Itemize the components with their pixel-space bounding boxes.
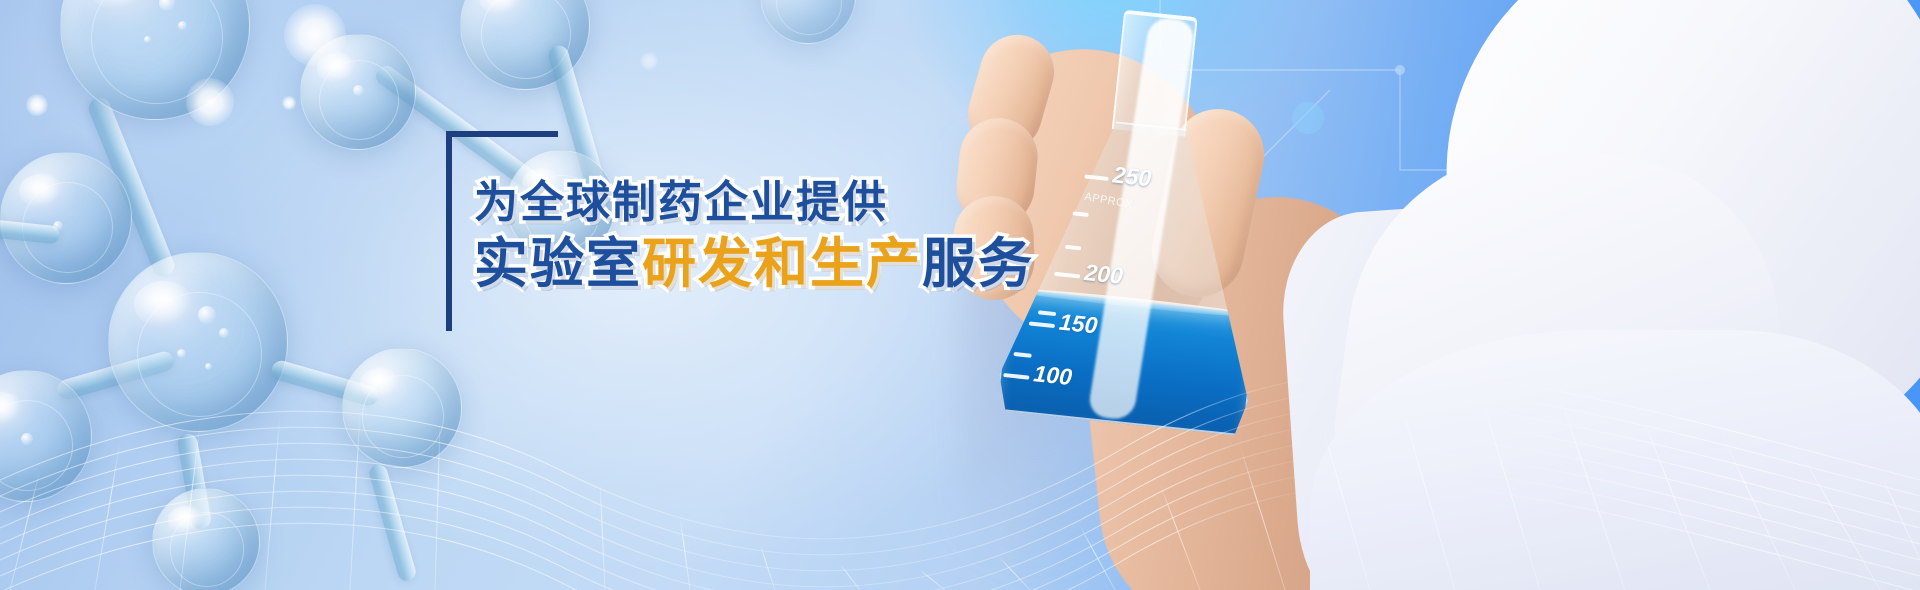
wireframe-wave-mesh xyxy=(0,330,1920,590)
headline-text: 为全球制药企业提供 实验室研发和生产服务 xyxy=(474,177,1034,295)
graduation-label-200: 200 xyxy=(1083,259,1124,290)
bokeh-light-dot xyxy=(186,78,234,126)
bokeh-light-dot xyxy=(282,96,296,110)
graduation-label-250: 250 xyxy=(1111,161,1152,192)
molecule-sphere xyxy=(760,0,856,44)
headline-line-2-part-1: 实验室 xyxy=(474,232,642,295)
bokeh-light-dot xyxy=(26,94,48,116)
headline-line-1: 为全球制药企业提供 xyxy=(474,177,1034,229)
bokeh-light-dot xyxy=(284,4,346,66)
hero-banner: 250 APPROX. 200 150 100 xyxy=(0,0,1920,590)
headline-line-2-part-3: 服务 xyxy=(922,232,1034,295)
bokeh-light-dot xyxy=(640,52,658,70)
headline-line-2: 实验室研发和生产服务 xyxy=(474,233,1034,295)
headline-block: 为全球制药企业提供 实验室研发和生产服务 xyxy=(446,131,966,336)
headline-line-2-highlight: 研发和生产 xyxy=(642,232,922,295)
molecule-sphere xyxy=(0,152,132,284)
